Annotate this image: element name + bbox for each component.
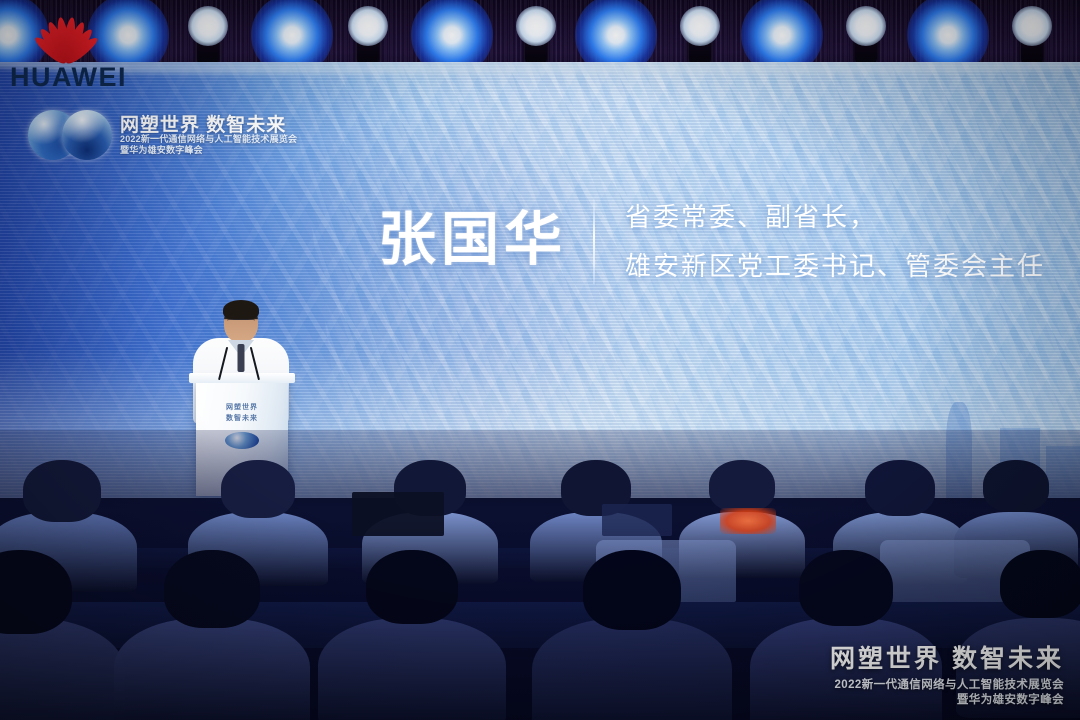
attendee-shoulders — [114, 618, 310, 720]
attendee-shoulders — [318, 618, 506, 720]
podium-text-line1: 网塑世界 — [196, 402, 288, 412]
attendee-head — [799, 550, 893, 626]
stage-lamp-9 — [655, 0, 745, 70]
stage-lamp-7 — [491, 0, 581, 70]
speaker-tie — [238, 344, 245, 372]
lamp-beam — [516, 6, 556, 46]
attendee-head — [164, 550, 260, 628]
lamp-beam — [907, 0, 989, 70]
watermark-subtitle: 2022新一代通信网络与人工智能技术展览会 暨华为雄安数字峰会 — [830, 678, 1064, 708]
event-subtitle-line1: 2022新一代通信网络与人工智能技术展览会 — [120, 134, 297, 145]
name-divider — [593, 196, 595, 284]
attendee-head — [583, 550, 681, 630]
attendee-front-3 — [318, 430, 506, 720]
stage-lamp-13 — [987, 0, 1077, 70]
stage-lamp-3 — [163, 0, 253, 70]
podium-text-line2: 数智未来 — [196, 413, 288, 423]
stage-lamp-6 — [407, 0, 497, 70]
lamp-beam — [251, 0, 333, 70]
attendee-front-2 — [114, 430, 310, 720]
attendee-head — [0, 550, 72, 634]
watermark-subtitle-line2: 暨华为雄安数字峰会 — [830, 693, 1064, 708]
attendee-head — [366, 550, 458, 624]
stage-lamp-12 — [903, 0, 993, 70]
lamp-beam — [575, 0, 657, 70]
stage-lamp-5 — [323, 0, 413, 70]
stage-lamp-8 — [571, 0, 661, 70]
stage-lamp-10 — [737, 0, 827, 70]
speaker-title-line1: 省委常委、副省长， — [625, 197, 1045, 234]
attendee-head — [1000, 550, 1080, 618]
speaker-glasses — [227, 319, 255, 327]
cityscape-orb-icon — [62, 110, 112, 160]
lamp-beam — [348, 6, 388, 46]
lamp-beam — [1012, 6, 1052, 46]
event-title: 网塑世界 数智未来 — [120, 110, 286, 137]
attendee-front-1 — [0, 430, 125, 720]
event-logo-lockup: 网塑世界 数智未来 2022新一代通信网络与人工智能技术展览会 暨华为雄安数字峰… — [28, 108, 288, 164]
speaker-titles: 省委常委、副省长， 雄安新区党工委书记、管委会主任 — [625, 197, 1045, 283]
speaker-name: 张国华 — [378, 211, 567, 269]
watermark-subtitle-line1: 2022新一代通信网络与人工智能技术展览会 — [830, 678, 1064, 693]
podium-top-surface — [189, 373, 295, 383]
speaker-title-line2: 雄安新区党工委书记、管委会主任 — [625, 246, 1045, 283]
speaker-name-card: 张国华 省委常委、副省长， 雄安新区党工委书记、管委会主任 — [378, 196, 1045, 284]
event-watermark: 网塑世界 数智未来 2022新一代通信网络与人工智能技术展览会 暨华为雄安数字峰… — [830, 639, 1064, 708]
lamp-beam — [846, 6, 886, 46]
event-subtitle-line2: 暨华为雄安数字峰会 — [120, 145, 297, 156]
huawei-wordmark: HUAWEI — [10, 62, 130, 93]
attendee-front-4 — [532, 430, 732, 720]
event-subtitle: 2022新一代通信网络与人工智能技术展览会 暨华为雄安数字峰会 — [120, 134, 297, 156]
screen-top-edge — [0, 62, 1080, 74]
lamp-beam — [680, 6, 720, 46]
stage-lighting-truss — [0, 0, 1080, 70]
watermark-title: 网塑世界 数智未来 — [830, 639, 1064, 675]
speaker-hair — [223, 300, 259, 320]
lamp-beam — [411, 0, 493, 70]
stage-lamp-11 — [821, 0, 911, 70]
huawei-flower-logo — [14, 2, 118, 64]
conference-photo: HUAWEI 网塑世界 数智未来 2022新一代通信网络与人工智能技术展览会 暨… — [0, 0, 1080, 720]
lamp-beam — [741, 0, 823, 70]
attendee-shoulders — [532, 618, 732, 720]
lamp-beam — [188, 6, 228, 46]
